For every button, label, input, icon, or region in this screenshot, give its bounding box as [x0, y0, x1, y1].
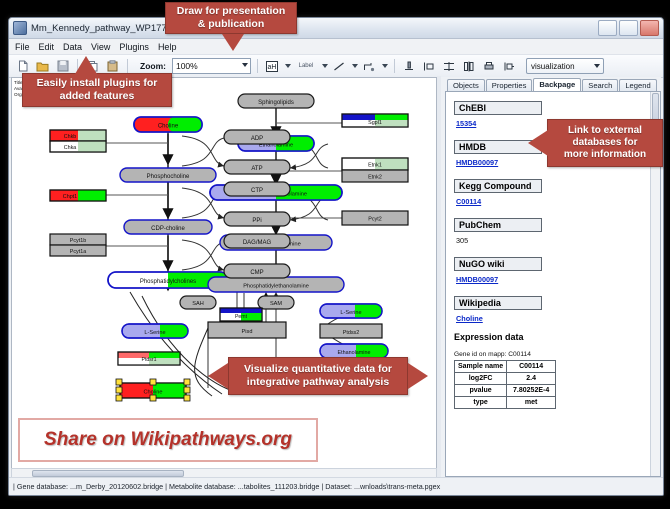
gene-id-label: Gene id on mapp: C00114 [454, 351, 650, 358]
kegg-header: Kegg Compound [454, 179, 542, 193]
nugo-header: NuGO wiki [454, 257, 542, 271]
visualization-combo[interactable]: visualization [526, 58, 604, 74]
cell-value: C00114 [507, 361, 556, 373]
group-icon[interactable] [461, 58, 478, 75]
print-icon[interactable] [481, 58, 498, 75]
gene-pcyt2: Pcyt2 [342, 211, 408, 225]
chevron-down-icon[interactable] [242, 63, 248, 67]
status-bar: | Gene database: ...m_Derby_20120602.bri… [9, 477, 663, 495]
align-left-icon[interactable] [401, 58, 418, 75]
svg-text:SAH: SAH [192, 301, 204, 307]
label-dropdown[interactable]: Label [294, 58, 318, 75]
node-phosphatidylethanolamine: Phosphatidylethanolamine [208, 277, 344, 292]
scrollbar-thumb[interactable] [32, 470, 184, 477]
kegg-link[interactable]: C00114 [456, 197, 650, 206]
table-row: pvalue 7.80252E-4 [455, 385, 556, 397]
svg-text:Pcyt1a: Pcyt1a [70, 249, 86, 255]
gene-pisd: Pisd [208, 322, 286, 338]
svg-text:SAM: SAM [270, 301, 282, 307]
callout-plugins: Easily install plugins for added feature… [22, 73, 172, 107]
callout-visualize-arrow-right [408, 363, 428, 389]
node-phosphocholine: Phosphocholine [120, 168, 216, 182]
side-panel-tabs[interactable]: Objects Properties Backpage Search Legen… [441, 77, 661, 91]
gene-pcyt1a: Pcyt1a [50, 245, 106, 256]
chevron-down-icon[interactable] [594, 64, 600, 68]
callout-links: Link to external databases for more info… [547, 119, 663, 167]
table-row: log2FC 2.4 [455, 373, 556, 385]
svg-text:ADP: ADP [251, 136, 263, 142]
chevron-down-icon[interactable] [382, 64, 388, 68]
svg-text:Etnk1: Etnk1 [368, 163, 382, 169]
menu-bar[interactable]: File Edit Data View Plugins Help [9, 39, 663, 55]
canvas-hscrollbar[interactable] [11, 468, 435, 477]
chebi-header: ChEBI [454, 101, 542, 115]
close-button[interactable] [640, 20, 659, 36]
chevron-down-icon[interactable] [285, 64, 291, 68]
minimize-button[interactable] [598, 20, 617, 36]
menu-item-plugins[interactable]: Plugins [119, 42, 149, 52]
svg-text:Pemt: Pemt [235, 314, 248, 320]
toolbar-separator [394, 59, 395, 73]
cell-value: 2.4 [507, 373, 556, 385]
callout-visualize: Visualize quantitative data for integrat… [228, 357, 408, 395]
zoom-combo[interactable]: 100% [172, 58, 251, 74]
pubchem-value: 305 [456, 236, 650, 245]
menu-item-data[interactable]: Data [63, 42, 82, 52]
tab-objects[interactable]: Objects [447, 79, 485, 91]
gene-ptdss2: Ptdss2 [320, 324, 382, 338]
cell-key: Sample name [455, 361, 507, 373]
svg-text:Phosphatidylcholines: Phosphatidylcholines [140, 279, 196, 285]
svg-text:Phosphatidylethanolamine: Phosphatidylethanolamine [243, 284, 309, 290]
section-pubchem: PubChem 305 [454, 215, 650, 245]
order-icon[interactable] [501, 58, 518, 75]
node-ppi: PPi [224, 212, 290, 226]
svg-text:L-Serine: L-Serine [340, 310, 361, 316]
chevron-down-icon[interactable] [352, 64, 358, 68]
zoom-value: 100% [176, 61, 198, 71]
svg-text:aH: aH [268, 64, 277, 71]
node-ctp: CTP [224, 182, 290, 196]
save-icon[interactable] [54, 58, 71, 75]
svg-text:L-Serine: L-Serine [144, 330, 165, 336]
callout-links-text: Link to external databases for more info… [564, 125, 646, 161]
gene-chkb: Chkb [50, 130, 106, 141]
gene-pcyt1b: Pcyt1b [50, 234, 106, 245]
cell-key: log2FC [455, 373, 507, 385]
tab-legend[interactable]: Legend [619, 79, 656, 91]
callout-draw-text: Draw for presentation & publication [177, 5, 286, 31]
menu-item-view[interactable]: View [91, 42, 110, 52]
table-row: type met [455, 397, 556, 409]
pathway-canvas[interactable]: Title: Availa Organi [11, 77, 437, 477]
svg-text:CMP: CMP [250, 270, 263, 276]
maximize-button[interactable] [619, 20, 638, 36]
callout-visualize-text: Visualize quantitative data for integrat… [244, 363, 392, 389]
toolbar-separator [127, 59, 128, 73]
callout-share: Share on Wikipathways.org [18, 418, 318, 462]
svg-text:Etnk2: Etnk2 [368, 175, 382, 181]
pubchem-header: PubChem [454, 218, 542, 232]
svg-text:Phosphocholine: Phosphocholine [147, 174, 190, 180]
expression-table: Sample name C00114 log2FC 2.4 pvalue 7.8… [454, 360, 556, 409]
callout-share-text: Share on Wikipathways.org [44, 429, 292, 451]
gene-chka: Chka [50, 141, 106, 152]
gene-etnk2: Etnk2 [342, 170, 408, 182]
expression-data-heading: Expression data [454, 332, 650, 342]
svg-text:Pisd: Pisd [242, 329, 253, 335]
svg-text:Chka: Chka [64, 145, 77, 151]
callout-plugins-arrow [75, 56, 97, 74]
distribute-icon[interactable] [441, 58, 458, 75]
node-choline-bottom-selected: Choline [116, 379, 190, 401]
toolbar-separator [257, 59, 258, 73]
callout-draw: Draw for presentation & publication [165, 2, 297, 34]
callout-plugins-text: Easily install plugins for added feature… [37, 77, 158, 103]
node-atp: ATP [224, 160, 290, 174]
node-sphingolipids: Sphingolipids [238, 94, 314, 108]
tab-properties[interactable]: Properties [486, 79, 533, 91]
line-icon[interactable] [331, 58, 348, 75]
align-stack-icon[interactable] [421, 58, 438, 75]
title-bar: Mm_Kennedy_pathway_WP1771_45176.gpml [9, 18, 663, 39]
svg-text:CDP-choline: CDP-choline [151, 226, 185, 232]
new-file-icon[interactable] [14, 58, 31, 75]
svg-text:Ptdss2: Ptdss2 [343, 330, 359, 336]
section-kegg: Kegg Compound C00114 [454, 176, 650, 206]
svg-text:Sgpl1: Sgpl1 [368, 120, 382, 126]
svg-text:Ethanolamine: Ethanolamine [338, 350, 371, 356]
nugo-link[interactable]: HMDB00097 [456, 275, 650, 284]
paste-icon[interactable] [104, 58, 121, 75]
gene-chpt1-upper: Chpt1 [50, 190, 106, 201]
node-l-serine-left: L-Serine [122, 324, 188, 338]
connector-icon[interactable] [361, 58, 378, 75]
zoom-label: Zoom: [140, 61, 166, 71]
open-folder-icon[interactable] [34, 58, 51, 75]
tab-search[interactable]: Search [582, 79, 618, 91]
wikipedia-link[interactable]: Choline [456, 314, 650, 323]
svg-text:Sphingolipids: Sphingolipids [258, 100, 294, 106]
node-ethanolamine-bottom: Ethanolamine [320, 344, 388, 358]
node-cmp: CMP [224, 264, 290, 278]
svg-text:ATP: ATP [251, 166, 262, 172]
node-adp: ADP [224, 130, 290, 144]
screenshot-root: Mm_Kennedy_pathway_WP1771_45176.gpml Fil… [0, 0, 670, 509]
svg-text:Choline: Choline [158, 124, 179, 130]
chevron-down-icon[interactable] [322, 64, 328, 68]
gene-sgpl1: Sgpl1 [342, 114, 408, 127]
callout-links-arrow [528, 130, 548, 156]
menu-item-help[interactable]: Help [158, 42, 177, 52]
cell-value: met [507, 397, 556, 409]
section-wikipedia: Wikipedia Choline [454, 293, 650, 323]
svg-text:CTP: CTP [251, 188, 263, 194]
tab-backpage[interactable]: Backpage [533, 78, 581, 91]
wikipedia-header: Wikipedia [454, 296, 542, 310]
node-l-serine-right: L-Serine [320, 304, 382, 318]
app-icon [13, 21, 27, 35]
cell-key: pvalue [455, 385, 507, 397]
gene-pemt: Pemt [220, 308, 262, 321]
status-text: | Gene database: ...m_Derby_20120602.bri… [13, 482, 440, 491]
gene-etnk1: Etnk1 [342, 158, 408, 170]
visualization-value: visualization [531, 62, 575, 71]
gene-ptdsr1: Ptdsr1 [118, 352, 180, 365]
menu-item-file[interactable]: File [15, 42, 30, 52]
cell-key: type [455, 397, 507, 409]
node-cdp-choline: CDP-choline [124, 220, 212, 234]
callout-visualize-arrow-left [208, 363, 228, 389]
node-sam: SAM [258, 296, 294, 309]
node-dag-mag: DAG/MAG [224, 234, 290, 248]
svg-text:Pcyt1b: Pcyt1b [70, 238, 86, 244]
node-choline-top: Choline [134, 117, 202, 132]
text-label-icon[interactable]: aH [264, 58, 281, 75]
section-nugo: NuGO wiki HMDB00097 [454, 254, 650, 284]
svg-text:Chpt1: Chpt1 [63, 194, 77, 200]
svg-text:Ptdsr1: Ptdsr1 [142, 357, 157, 363]
callout-draw-arrow [222, 34, 244, 51]
svg-text:Chkb: Chkb [64, 134, 77, 140]
menu-item-edit[interactable]: Edit [39, 42, 55, 52]
window-buttons[interactable] [598, 20, 659, 36]
cell-value: 7.80252E-4 [507, 385, 556, 397]
node-sah: SAH [180, 296, 216, 309]
svg-text:PPi: PPi [252, 218, 261, 224]
table-row: Sample name C00114 [455, 361, 556, 373]
svg-text:DAG/MAG: DAG/MAG [243, 240, 272, 246]
svg-text:Pcyt2: Pcyt2 [368, 217, 381, 223]
